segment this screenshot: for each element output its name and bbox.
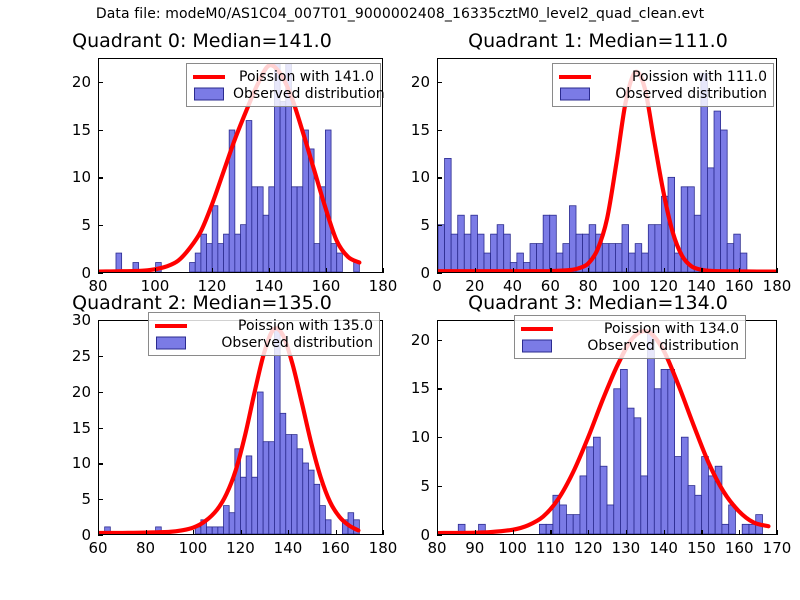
histogram-bar bbox=[530, 244, 537, 272]
y-tick-mark bbox=[437, 340, 442, 341]
x-tick-mark bbox=[288, 530, 289, 535]
legend-quadrant-1: Poission with 111.0 Observed distributio… bbox=[552, 63, 774, 107]
x-tick-mark bbox=[513, 268, 514, 273]
x-tick-mark bbox=[98, 530, 99, 535]
legend-label-hist: Observed distribution bbox=[554, 338, 739, 354]
x-tick-label: 110 bbox=[536, 539, 565, 557]
histogram-bar bbox=[695, 495, 702, 534]
y-tick-label: 25 bbox=[8, 347, 91, 365]
y-tick-mark bbox=[98, 535, 103, 536]
histogram-bar bbox=[280, 102, 286, 272]
histogram-bar bbox=[308, 470, 314, 534]
legend-quadrant-2: Poission with 135.0 Observed distributio… bbox=[148, 312, 380, 356]
histogram-bar bbox=[614, 389, 621, 534]
histogram-bar bbox=[681, 437, 688, 534]
histogram-bar bbox=[314, 484, 320, 534]
histogram-bar bbox=[445, 158, 452, 272]
x-tick-mark bbox=[626, 268, 627, 273]
x-tick-label: 150 bbox=[687, 539, 716, 557]
y-tick-mark bbox=[98, 463, 103, 464]
histogram-bar bbox=[491, 234, 498, 272]
histogram-bar bbox=[331, 244, 337, 272]
x-tick-mark bbox=[437, 530, 438, 535]
histogram-bar bbox=[642, 253, 649, 272]
histogram-bar bbox=[325, 130, 331, 272]
histogram-bar bbox=[207, 527, 213, 534]
histogram-bar bbox=[734, 234, 741, 272]
legend-entry-curve: Poission with 111.0 bbox=[558, 68, 767, 85]
y-tick-label: 15 bbox=[8, 419, 91, 437]
histogram-bar bbox=[722, 524, 729, 534]
y-tick-mark bbox=[98, 320, 103, 321]
x-tick-mark bbox=[739, 268, 740, 273]
legend-label-curve: Poission with 134.0 bbox=[554, 321, 739, 337]
histogram-bar bbox=[477, 234, 484, 272]
histogram-bar bbox=[580, 476, 587, 534]
legend-patch-icon bbox=[520, 337, 554, 354]
histogram-bar bbox=[218, 244, 224, 272]
y-tick-label: 20 bbox=[404, 331, 430, 349]
histogram-bar bbox=[634, 418, 641, 534]
histogram-bar bbox=[629, 253, 636, 272]
y-tick-mark bbox=[98, 273, 103, 274]
x-tick-mark bbox=[212, 268, 213, 273]
histogram-bar bbox=[484, 253, 491, 272]
histogram-bar bbox=[325, 520, 331, 534]
histogram-bar bbox=[607, 505, 614, 534]
histogram-bar bbox=[229, 513, 235, 534]
legend-entry-curve: Poission with 135.0 bbox=[154, 317, 373, 334]
x-tick-mark bbox=[383, 268, 384, 273]
histogram-bars-quadrant-3 bbox=[458, 331, 762, 534]
histogram-bar bbox=[497, 225, 504, 272]
y-tick-mark bbox=[437, 535, 442, 536]
x-tick-mark bbox=[475, 268, 476, 273]
x-tick-mark bbox=[664, 530, 665, 535]
y-tick-label: 20 bbox=[404, 73, 430, 91]
histogram-bar bbox=[539, 524, 546, 534]
histogram-bar bbox=[201, 234, 207, 272]
histogram-bar bbox=[721, 130, 728, 272]
histogram-bar bbox=[212, 206, 218, 272]
subplot-title-quadrant-0: Quadrant 0: Median=141.0 bbox=[8, 30, 396, 52]
histogram-bar bbox=[587, 447, 594, 534]
histogram-bar bbox=[661, 369, 668, 534]
figure-suptitle: Data file: modeM0/AS1C04_007T01_90000024… bbox=[0, 6, 800, 22]
histogram-bar bbox=[517, 253, 524, 272]
histogram-bar bbox=[615, 244, 622, 272]
x-tick-label: 160 bbox=[321, 539, 350, 557]
y-tick-label: 20 bbox=[8, 73, 91, 91]
legend-entry-hist: Observed distribution bbox=[192, 85, 374, 102]
histogram-bar bbox=[740, 253, 747, 272]
y-tick-label: 0 bbox=[404, 264, 430, 282]
y-tick-label: 0 bbox=[8, 526, 91, 544]
x-tick-label: 180 bbox=[369, 539, 398, 557]
y-tick-mark bbox=[98, 130, 103, 131]
histogram-bar bbox=[668, 369, 675, 534]
histogram-bar bbox=[688, 486, 695, 534]
histogram-bar bbox=[280, 413, 286, 534]
x-tick-label: 140 bbox=[274, 539, 303, 557]
x-tick-mark bbox=[739, 530, 740, 535]
legend-entry-curve: Poission with 134.0 bbox=[520, 320, 739, 337]
histogram-bar bbox=[241, 477, 247, 534]
x-tick-mark bbox=[588, 530, 589, 535]
y-tick-label: 5 bbox=[8, 216, 91, 234]
histogram-bar bbox=[269, 187, 275, 272]
histogram-bar bbox=[560, 505, 567, 534]
x-tick-mark bbox=[550, 530, 551, 535]
legend-entry-hist: Observed distribution bbox=[558, 85, 767, 102]
x-tick-mark bbox=[701, 268, 702, 273]
histogram-bar bbox=[648, 225, 655, 272]
histogram-bar bbox=[569, 206, 576, 272]
legend-label-curve: Poission with 135.0 bbox=[188, 318, 373, 334]
legend-line-icon bbox=[558, 68, 592, 85]
histogram-bar bbox=[190, 263, 196, 272]
y-tick-label: 5 bbox=[404, 216, 430, 234]
histogram-bar bbox=[241, 225, 247, 272]
x-tick-mark bbox=[155, 268, 156, 273]
histogram-bar bbox=[566, 515, 573, 534]
legend-patch-icon bbox=[192, 85, 226, 102]
histogram-bar bbox=[609, 244, 616, 272]
y-tick-mark bbox=[437, 437, 442, 438]
histogram-bar bbox=[314, 244, 320, 272]
histogram-bar bbox=[702, 457, 709, 534]
x-tick-mark bbox=[269, 268, 270, 273]
legend-label-curve: Poission with 141.0 bbox=[226, 69, 374, 85]
x-tick-label: 170 bbox=[763, 539, 792, 557]
x-tick-mark bbox=[326, 268, 327, 273]
y-tick-label: 15 bbox=[404, 121, 430, 139]
x-tick-label: 130 bbox=[612, 539, 641, 557]
x-tick-mark bbox=[588, 268, 589, 273]
histogram-bar bbox=[286, 435, 292, 534]
histogram-bar bbox=[749, 524, 756, 534]
histogram-bar bbox=[655, 225, 662, 272]
histogram-bar bbox=[504, 234, 511, 272]
histogram-bar bbox=[246, 456, 252, 534]
x-tick-label: 140 bbox=[649, 539, 678, 557]
histogram-bar bbox=[116, 253, 122, 272]
histogram-bar bbox=[195, 253, 201, 272]
y-tick-label: 20 bbox=[8, 383, 91, 401]
x-tick-mark bbox=[193, 530, 194, 535]
legend-label-hist: Observed distribution bbox=[226, 86, 385, 102]
histogram-bar bbox=[212, 527, 218, 534]
y-tick-mark bbox=[437, 82, 442, 83]
legend-label-hist: Observed distribution bbox=[592, 86, 767, 102]
histogram-bar bbox=[252, 187, 258, 272]
histogram-bar bbox=[635, 244, 642, 272]
y-tick-label: 30 bbox=[8, 311, 91, 329]
y-tick-mark bbox=[437, 225, 442, 226]
y-tick-label: 5 bbox=[404, 477, 430, 495]
histogram-bar bbox=[694, 215, 701, 272]
legend-label-hist: Observed distribution bbox=[188, 335, 373, 351]
histogram-bar bbox=[675, 457, 682, 534]
legend-line-icon bbox=[192, 68, 226, 85]
subplot-title-quadrant-1: Quadrant 1: Median=111.0 bbox=[404, 30, 792, 52]
x-tick-mark bbox=[664, 268, 665, 273]
y-tick-label: 10 bbox=[404, 428, 430, 446]
histogram-bar bbox=[458, 215, 465, 272]
y-tick-label: 0 bbox=[8, 264, 91, 282]
subplot-title-quadrant-3: Quadrant 3: Median=134.0 bbox=[404, 292, 792, 314]
histogram-bar bbox=[600, 466, 607, 534]
legend-patch-icon bbox=[558, 85, 592, 102]
histogram-bar bbox=[654, 389, 661, 534]
legend-entry-hist: Observed distribution bbox=[520, 337, 739, 354]
histogram-bar bbox=[708, 476, 715, 534]
histogram-bar bbox=[573, 515, 580, 534]
histogram-bar bbox=[627, 408, 634, 534]
y-tick-label: 10 bbox=[8, 168, 91, 186]
histogram-bar bbox=[246, 121, 252, 272]
x-tick-mark bbox=[626, 530, 627, 535]
histogram-bar bbox=[742, 524, 749, 534]
histogram-bar bbox=[252, 477, 258, 534]
histogram-bar bbox=[550, 215, 557, 272]
histogram-bar bbox=[641, 476, 648, 534]
y-tick-mark bbox=[437, 177, 442, 178]
histogram-bar bbox=[438, 225, 445, 272]
x-tick-label: 80 bbox=[427, 539, 446, 557]
y-tick-label: 5 bbox=[8, 490, 91, 508]
histogram-bar bbox=[297, 449, 303, 534]
subplot-quadrant-1: Quadrant 1: Median=111.0 05101520 020406… bbox=[404, 30, 792, 295]
histogram-bar bbox=[451, 234, 458, 272]
histogram-bar bbox=[622, 225, 629, 272]
legend-line-icon bbox=[520, 320, 554, 337]
y-tick-mark bbox=[437, 130, 442, 131]
x-tick-mark bbox=[437, 268, 438, 273]
y-tick-label: 10 bbox=[8, 454, 91, 472]
figure-canvas: Data file: modeM0/AS1C04_007T01_90000024… bbox=[0, 0, 800, 600]
histogram-bars-quadrant-2 bbox=[105, 328, 360, 534]
x-tick-mark bbox=[701, 530, 702, 535]
histogram-bar bbox=[263, 215, 269, 272]
histogram-bar bbox=[224, 506, 230, 534]
histogram-bar bbox=[320, 506, 326, 534]
y-tick-label: 0 bbox=[404, 526, 430, 544]
legend-entry-curve: Poission with 141.0 bbox=[192, 68, 374, 85]
legend-patch-icon bbox=[154, 334, 188, 351]
histogram-bar bbox=[648, 331, 655, 534]
x-tick-label: 90 bbox=[465, 539, 484, 557]
histogram-bar bbox=[224, 234, 230, 272]
legend-entry-hist: Observed distribution bbox=[154, 334, 373, 351]
histogram-bar bbox=[688, 187, 695, 272]
legend-label-curve: Poission with 111.0 bbox=[592, 69, 767, 85]
histogram-bar bbox=[537, 244, 544, 272]
histogram-bar bbox=[291, 435, 297, 534]
y-tick-label: 10 bbox=[404, 168, 430, 186]
histogram-bar bbox=[464, 234, 471, 272]
x-tick-mark bbox=[383, 530, 384, 535]
histogram-bar bbox=[602, 244, 609, 272]
histogram-bar bbox=[727, 244, 734, 272]
x-tick-label: 60 bbox=[88, 539, 107, 557]
y-tick-mark bbox=[98, 356, 103, 357]
histogram-bar bbox=[291, 187, 297, 272]
subplot-quadrant-2: Quadrant 2: Median=135.0 051015202530 60… bbox=[8, 292, 396, 560]
legend-quadrant-0: Poission with 141.0 Observed distributio… bbox=[186, 63, 381, 107]
histogram-bar bbox=[471, 215, 478, 272]
legend-line-icon bbox=[154, 317, 188, 334]
x-tick-label: 120 bbox=[226, 539, 255, 557]
histogram-bar bbox=[593, 437, 600, 534]
histogram-bar bbox=[589, 225, 596, 272]
histogram-bar bbox=[563, 244, 570, 272]
y-tick-label: 15 bbox=[404, 379, 430, 397]
x-tick-mark bbox=[475, 530, 476, 535]
y-tick-mark bbox=[437, 486, 442, 487]
histogram-bar bbox=[218, 527, 224, 534]
y-tick-mark bbox=[98, 499, 103, 500]
histogram-bar bbox=[707, 168, 714, 272]
x-tick-mark bbox=[98, 268, 99, 273]
y-tick-mark bbox=[437, 388, 442, 389]
x-tick-mark bbox=[777, 268, 778, 273]
histogram-bar bbox=[297, 187, 303, 272]
subplot-quadrant-0: Quadrant 0: Median=141.0 05101520 801001… bbox=[8, 30, 396, 295]
subplot-quadrant-3: Quadrant 3: Median=134.0 05101520 809010… bbox=[404, 292, 792, 560]
legend-quadrant-3: Poission with 134.0 Observed distributio… bbox=[514, 315, 746, 359]
histogram-bar bbox=[714, 111, 721, 272]
x-tick-mark bbox=[513, 530, 514, 535]
histogram-bar bbox=[337, 253, 343, 272]
x-tick-label: 120 bbox=[574, 539, 603, 557]
x-tick-label: 100 bbox=[179, 539, 208, 557]
histogram-bar bbox=[257, 187, 263, 272]
x-tick-mark bbox=[550, 268, 551, 273]
histogram-bar bbox=[303, 463, 309, 534]
x-tick-label: 160 bbox=[725, 539, 754, 557]
x-tick-mark bbox=[241, 530, 242, 535]
y-tick-label: 15 bbox=[8, 121, 91, 139]
x-tick-mark bbox=[777, 530, 778, 535]
x-tick-mark bbox=[146, 530, 147, 535]
x-tick-mark bbox=[336, 530, 337, 535]
histogram-bar bbox=[621, 369, 628, 534]
y-tick-mark bbox=[98, 177, 103, 178]
histogram-bar bbox=[269, 442, 275, 534]
y-tick-mark bbox=[98, 428, 103, 429]
histogram-bar bbox=[235, 234, 241, 272]
x-tick-label: 100 bbox=[498, 539, 527, 557]
histogram-bar bbox=[274, 328, 280, 534]
histogram-bar bbox=[543, 215, 550, 272]
y-tick-mark bbox=[98, 225, 103, 226]
y-tick-mark bbox=[437, 273, 442, 274]
y-tick-mark bbox=[98, 82, 103, 83]
y-tick-mark bbox=[98, 392, 103, 393]
histogram-bar bbox=[257, 392, 263, 534]
x-tick-label: 80 bbox=[136, 539, 155, 557]
histogram-bar bbox=[263, 442, 269, 534]
